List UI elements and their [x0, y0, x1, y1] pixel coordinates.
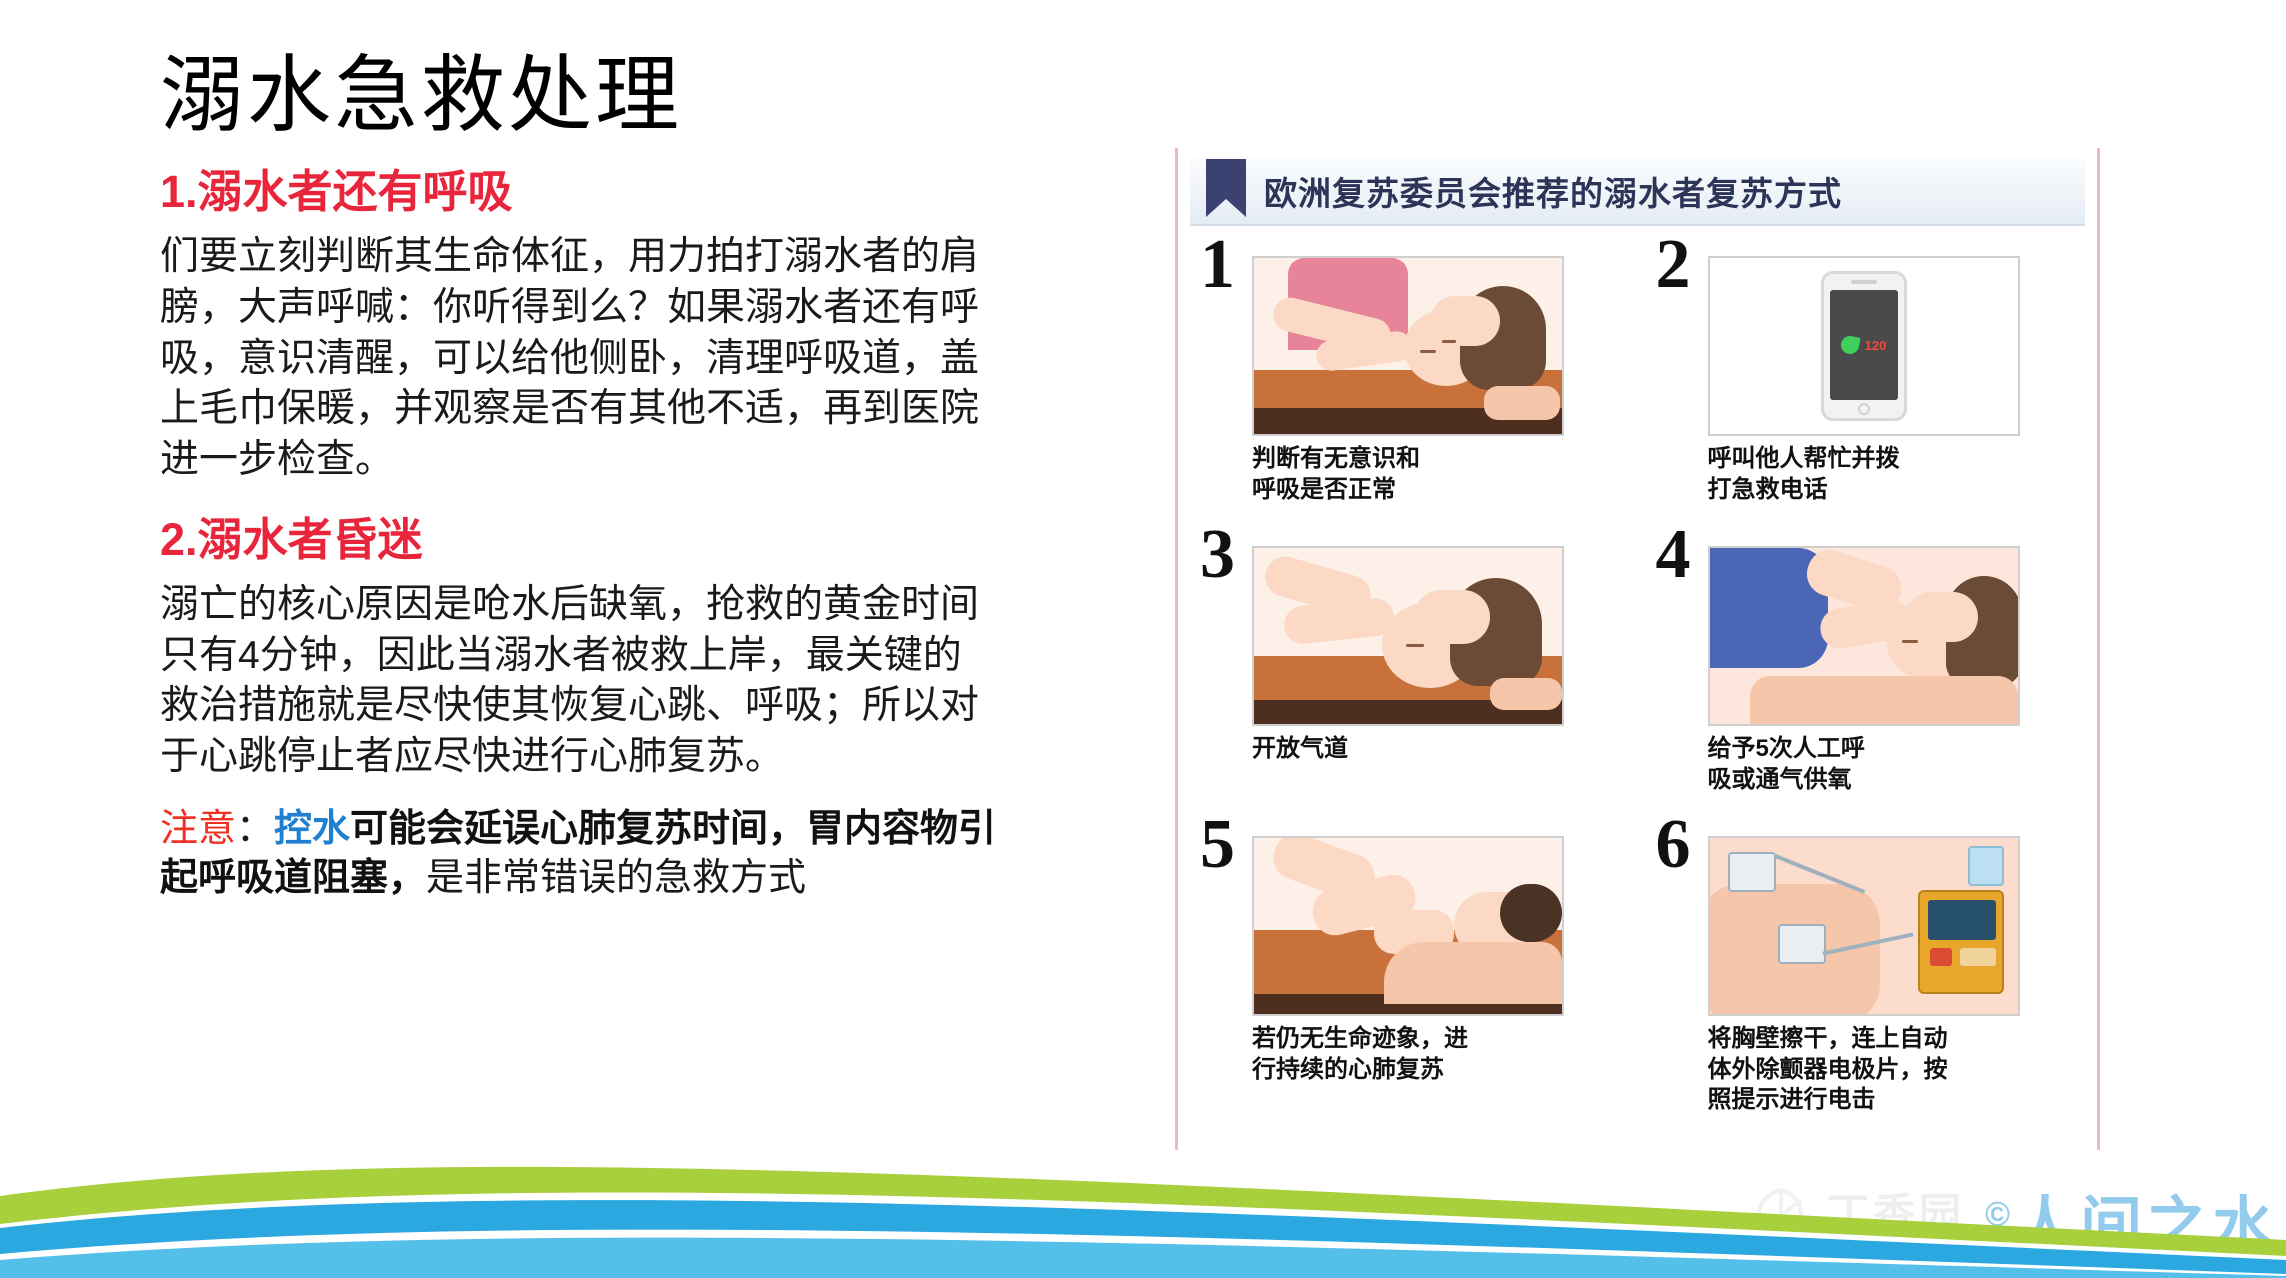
- step-number-1: 1: [1200, 230, 1235, 300]
- step-number-4: 4: [1656, 520, 1691, 590]
- step-number-6: 6: [1656, 810, 1691, 880]
- panel-banner: 欧洲复苏委员会推荐的溺水者复苏方式: [1190, 158, 2085, 226]
- step-number-3: 3: [1200, 520, 1235, 590]
- warning-colon: ：: [236, 808, 274, 850]
- step-caption-3: 开放气道: [1252, 734, 1582, 765]
- aed-device-icon: [1918, 890, 2004, 994]
- step-caption-5: 若仍无生命迹象，进行持续的心肺复苏: [1252, 1024, 1582, 1085]
- step-number-2: 2: [1656, 230, 1691, 300]
- step-illustration-6: [1708, 836, 2020, 1016]
- aed-pad-lower: [1778, 924, 1826, 964]
- section-1-body: 们要立刻判断其生命体征，用力拍打溺水者的肩膀，大声呼喊：你听得到么？如果溺水者还…: [160, 232, 1000, 485]
- warning-label: 注意: [160, 808, 236, 850]
- aed-pad-upper: [1728, 852, 1776, 892]
- section-2-body: 溺亡的核心原因是呛水后缺氧，抢救的黄金时间只有4分钟，因此当溺水者被救上岸，最关…: [160, 580, 1000, 783]
- step-illustration-3: [1252, 546, 1564, 726]
- slide-canvas: 溺水急救处理 1.溺水者还有呼吸 们要立刻判断其生命体征，用力拍打溺水者的肩膀，…: [0, 0, 2286, 1278]
- section-1-heading: 1.溺水者还有呼吸: [160, 164, 1040, 220]
- step-cell-6: 6 将胸壁擦干，连上自动体外除颤器电极片，按照提示进行电击: [1650, 814, 2082, 1104]
- emergency-number: 120: [1865, 338, 1887, 353]
- step-illustration-4: [1708, 546, 2020, 726]
- step-cell-2: 2 120 呼叫他人帮忙并拨打急救电话: [1650, 234, 2082, 524]
- step-illustration-2: 120: [1708, 256, 2020, 436]
- step-caption-1: 判断有无意识和呼吸是否正常: [1252, 444, 1582, 505]
- warning-highlight: 控水: [274, 808, 350, 850]
- page-title: 溺水急救处理: [160, 48, 1040, 142]
- step-cell-4: 4 给予5次人工呼吸或通气供氧: [1650, 524, 2082, 814]
- phone-handset-icon: [1839, 334, 1860, 355]
- section-2-heading: 2.溺水者昏迷: [160, 512, 1040, 568]
- warning-tail-text: 是非常错误的急救方式: [426, 857, 806, 899]
- left-content-column: 溺水急救处理 1.溺水者还有呼吸 们要立刻判断其生命体征，用力拍打溺水者的肩膀，…: [160, 48, 1040, 904]
- step-illustration-1: [1252, 256, 1564, 436]
- step-caption-2: 呼叫他人帮忙并拨打急救电话: [1708, 444, 2038, 505]
- warning-note: 注意：控水可能会延误心肺复苏时间，胃内容物引起呼吸道阻塞，是非常错误的急救方式: [160, 805, 1010, 904]
- step-cell-3: 3 开放气道: [1194, 524, 1626, 814]
- resuscitation-infographic-panel: 欧洲复苏委员会推荐的溺水者复苏方式 1: [1175, 148, 2100, 1150]
- step-cell-5: 5 若仍无生命迹象，进行持续的心肺复苏: [1194, 814, 1626, 1104]
- decorative-waves: [0, 1078, 2286, 1278]
- phone-icon: 120: [1821, 271, 1907, 421]
- steps-grid: 1 判断有无意识和呼吸是否正常 2: [1194, 234, 2081, 1104]
- step-caption-4: 给予5次人工呼吸或通气供氧: [1708, 734, 2038, 795]
- step-illustration-5: [1252, 836, 1564, 1016]
- step-cell-1: 1 判断有无意识和呼吸是否正常: [1194, 234, 1626, 524]
- panel-banner-title: 欧洲复苏委员会推荐的溺水者复苏方式: [1264, 167, 1842, 215]
- bookmark-ribbon-icon: [1206, 159, 1246, 217]
- step-number-5: 5: [1200, 810, 1235, 880]
